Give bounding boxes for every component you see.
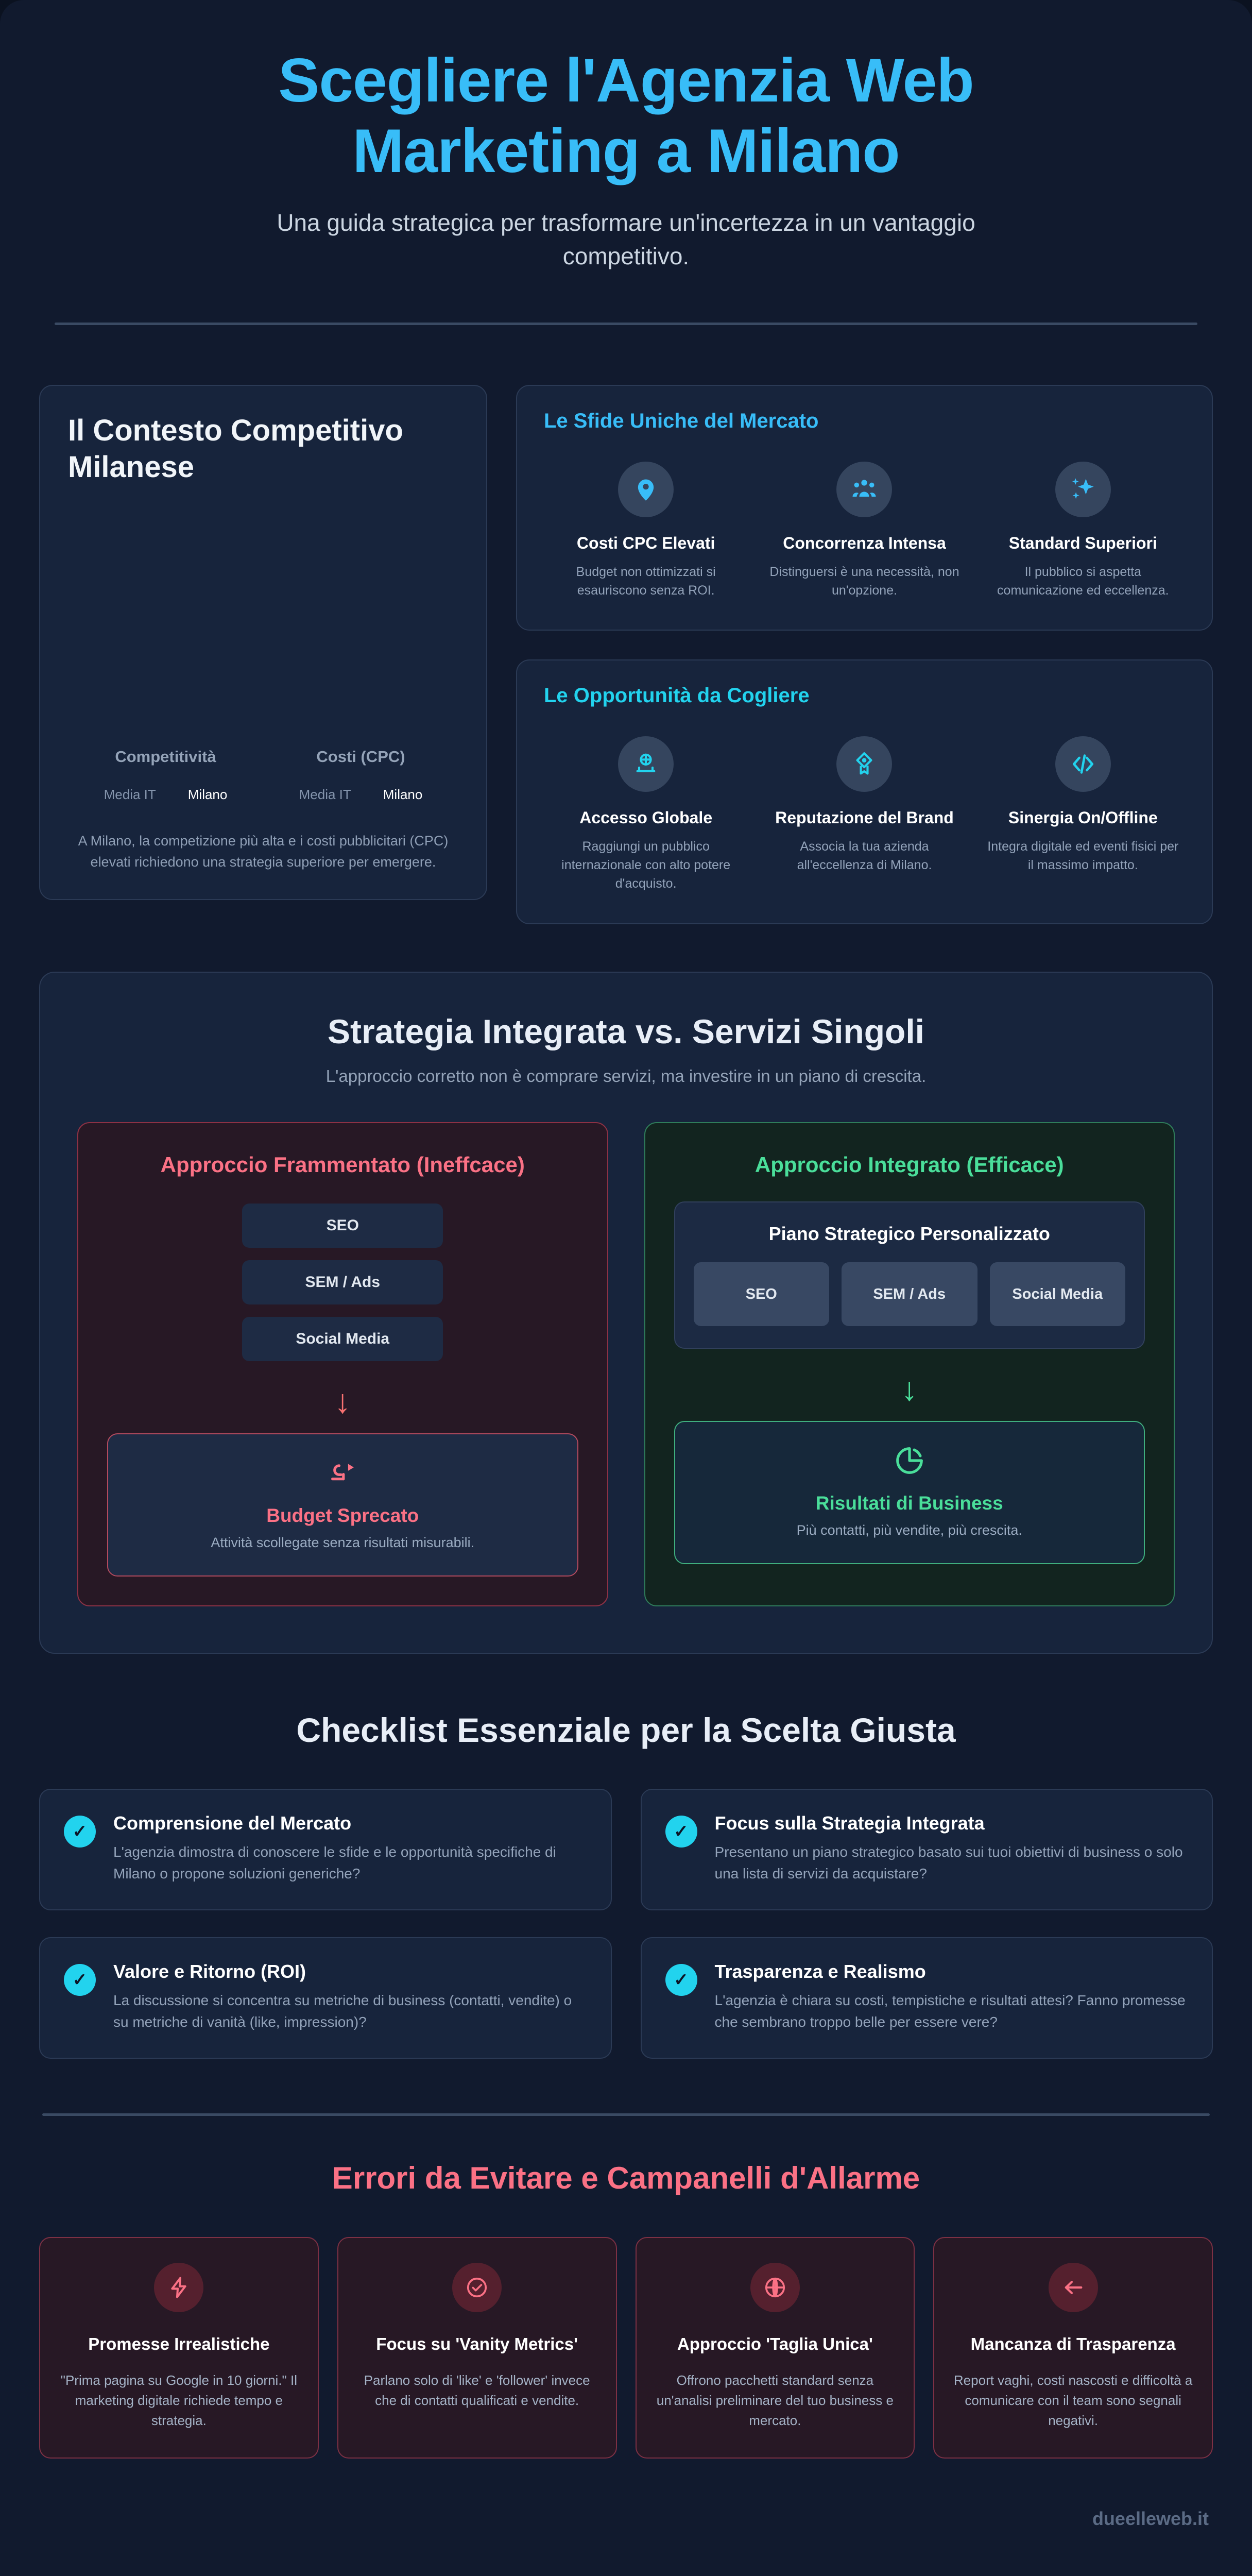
check-circle-icon: ✓ — [665, 1964, 697, 1996]
opportunity-desc: Integra digitale ed eventi fisici per il… — [986, 837, 1180, 875]
service-chip[interactable]: SEO — [242, 1204, 443, 1248]
error-card: Promesse Irrealistiche "Prima pagina su … — [39, 2237, 319, 2459]
infographic-page: Scegliere l'Agenzia Web Marketing a Mila… — [0, 0, 1252, 2576]
opportunity-item: Sinergia On/Offline Integra digitale ed … — [981, 736, 1185, 893]
opportunity-desc: Raggiungi un pubblico internazionale con… — [549, 837, 743, 893]
chart-group: Competitività Media IT Milano — [76, 748, 255, 803]
challenges-list: Costi CPC Elevati Budget non ottimizzati… — [544, 462, 1185, 600]
chart-group-label: Costi (CPC) — [271, 748, 451, 766]
chart-note: A Milano, la competizione più alta e i c… — [68, 831, 458, 872]
integrated-title: Approccio Integrato (Efficace) — [674, 1151, 1145, 1179]
check-circle-icon — [452, 2263, 502, 2312]
strategy-title: Strategia Integrata vs. Servizi Singoli — [77, 1012, 1175, 1051]
checklist-item-title: Focus sulla Strategia Integrata — [715, 1812, 1189, 1834]
checklist-item-desc: L'agenzia dimostra di conoscere le sfide… — [113, 1841, 587, 1885]
checklist-item-title: Comprensione del Mercato — [113, 1812, 587, 1834]
integrated-panel: Approccio Integrato (Efficace) Piano Str… — [644, 1122, 1175, 1607]
code-brackets-icon — [1055, 736, 1111, 792]
integrated-outcome: Risultati di Business Più contatti, più … — [674, 1421, 1145, 1564]
challenge-title: Concorrenza Intensa — [767, 533, 961, 554]
arrow-down-icon: ↓ — [674, 1372, 1145, 1405]
checklist-item[interactable]: ✓ Valore e Ritorno (ROI) La discussione … — [39, 1937, 612, 2059]
competitive-bar-chart: Competitività Media IT Milano Costi (CPC… — [68, 486, 458, 873]
strategy-comparison: Approccio Frammentato (Ineffcace) SEO SE… — [77, 1122, 1175, 1607]
checklist-item[interactable]: ✓ Comprensione del Mercato L'agenzia dim… — [39, 1789, 612, 1910]
plan-service-list: SEO SEM / Ads Social Media — [694, 1262, 1126, 1326]
checklist-item-desc: L'agenzia è chiara su costi, tempistiche… — [715, 1990, 1189, 2033]
checklist-title: Checklist Essenziale per la Scelta Giust… — [39, 1710, 1213, 1750]
error-desc: Parlano solo di 'like' e 'follower' inve… — [354, 2370, 601, 2411]
error-title: Focus su 'Vanity Metrics' — [354, 2333, 601, 2356]
plan-service-chip[interactable]: SEM / Ads — [842, 1262, 977, 1326]
challenges-card: Le Sfide Uniche del Mercato Costi CPC El… — [516, 385, 1213, 631]
strategy-subtitle: L'approccio corretto non è comprare serv… — [77, 1066, 1175, 1086]
error-title: Promesse Irrealistiche — [56, 2333, 302, 2356]
opportunity-title: Sinergia On/Offline — [986, 807, 1180, 829]
fragmented-outcome-title: Budget Sprecato — [129, 1505, 557, 1527]
right-column: Le Sfide Uniche del Mercato Costi CPC El… — [516, 385, 1213, 924]
errors-title: Errori da Evitare e Campanelli d'Allarme — [39, 2160, 1213, 2196]
plan-service-chip[interactable]: SEO — [694, 1262, 830, 1326]
checklist-section: Checklist Essenziale per la Scelta Giust… — [39, 1710, 1213, 2059]
opportunity-item: Accesso Globale Raggiungi un pubblico in… — [544, 736, 748, 893]
opportunities-title: Le Opportunità da Cogliere — [544, 684, 1185, 707]
service-chip[interactable]: SEM / Ads — [242, 1260, 443, 1304]
chart-tick-label: Media IT — [104, 787, 156, 803]
context-section: Il Contesto Competitivo Milanese Competi… — [39, 385, 1213, 924]
challenge-desc: Il pubblico si aspetta comunicazione ed … — [986, 563, 1180, 600]
chart-group-legend: Media IT Milano — [271, 787, 451, 803]
chart-plot-area — [68, 557, 458, 748]
lightning-bolt-icon — [154, 2263, 203, 2312]
sparkles-icon — [1055, 462, 1111, 517]
error-card: Approccio 'Taglia Unica' Offrono pacchet… — [636, 2237, 915, 2459]
challenges-title: Le Sfide Uniche del Mercato — [544, 410, 1185, 433]
error-desc: Report vaghi, costi nascosti e difficolt… — [950, 2370, 1196, 2431]
error-desc: "Prima pagina su Google in 10 giorni." I… — [56, 2370, 302, 2431]
integrated-outcome-desc: Più contatti, più vendite, più crescita. — [696, 1522, 1124, 1538]
fragmented-outcome-desc: Attività scollegate senza risultati misu… — [129, 1535, 557, 1551]
challenge-item: Concorrenza Intensa Distinguersi è una n… — [762, 462, 966, 600]
chart-tick-label: Milano — [383, 787, 423, 803]
pie-chart-icon — [696, 1445, 1124, 1479]
integrated-outcome-title: Risultati di Business — [696, 1493, 1124, 1514]
arrow-left-icon — [1049, 2263, 1098, 2312]
opportunities-card: Le Opportunità da Cogliere Accesso Globa… — [516, 659, 1213, 924]
checklist-item[interactable]: ✓ Trasparenza e Realismo L'agenzia è chi… — [641, 1937, 1213, 2059]
chart-group-legend: Media IT Milano — [76, 787, 255, 803]
service-chip[interactable]: Social Media — [242, 1317, 443, 1361]
context-card: Il Contesto Competitivo Milanese Competi… — [39, 385, 487, 900]
error-card: Focus su 'Vanity Metrics' Parlano solo d… — [337, 2237, 617, 2459]
check-circle-icon: ✓ — [665, 1816, 697, 1848]
error-desc: Offrono pacchetti standard senza un'anal… — [652, 2370, 899, 2431]
chart-tick-label: Milano — [188, 787, 228, 803]
fragmented-outcome: Budget Sprecato Attività scollegate senz… — [107, 1433, 578, 1577]
map-pin-icon — [618, 462, 674, 517]
opportunity-title: Accesso Globale — [549, 807, 743, 829]
checklist-grid: ✓ Comprensione del Mercato L'agenzia dim… — [39, 1789, 1213, 2059]
plan-service-chip[interactable]: Social Media — [990, 1262, 1126, 1326]
globe-stand-icon — [618, 736, 674, 792]
globe-icon — [750, 2263, 800, 2312]
error-title: Approccio 'Taglia Unica' — [652, 2333, 899, 2356]
arrow-down-icon: ↓ — [107, 1385, 578, 1418]
fragmented-service-list: SEO SEM / Ads Social Media — [107, 1204, 578, 1361]
opportunity-title: Reputazione del Brand — [767, 807, 961, 829]
challenge-title: Costi CPC Elevati — [549, 533, 743, 554]
errors-section: Errori da Evitare e Campanelli d'Allarme… — [39, 2113, 1213, 2459]
check-circle-icon: ✓ — [64, 1964, 96, 1996]
opportunities-list: Accesso Globale Raggiungi un pubblico in… — [544, 736, 1185, 893]
footer-brand: dueelleweb.it — [39, 2508, 1213, 2530]
opportunity-desc: Associa la tua azienda all'eccellenza di… — [767, 837, 961, 875]
plan-title: Piano Strategico Personalizzato — [694, 1223, 1126, 1245]
chart-group-label: Competitività — [76, 748, 255, 766]
challenge-item: Standard Superiori Il pubblico si aspett… — [981, 462, 1185, 600]
checklist-item-desc: La discussione si concentra su metriche … — [113, 1990, 587, 2033]
page-subtitle: Una guida strategica per trasformare un'… — [225, 206, 1028, 274]
context-card-title: Il Contesto Competitivo Milanese — [68, 413, 458, 486]
checklist-item-desc: Presentano un piano strategico basato su… — [715, 1841, 1189, 1885]
checklist-item-title: Valore e Ritorno (ROI) — [113, 1961, 587, 1982]
strategic-plan-box: Piano Strategico Personalizzato SEO SEM … — [674, 1201, 1145, 1349]
errors-divider — [42, 2113, 1210, 2116]
errors-grid: Promesse Irrealistiche "Prima pagina su … — [39, 2237, 1213, 2459]
fragmented-panel: Approccio Frammentato (Ineffcace) SEO SE… — [77, 1122, 608, 1607]
page-title: Scegliere l'Agenzia Web Marketing a Mila… — [173, 45, 1079, 187]
challenge-desc: Distinguersi è una necessità, non un'opz… — [767, 563, 961, 600]
opportunity-item: Reputazione del Brand Associa la tua azi… — [762, 736, 966, 893]
error-card: Mancanza di Trasparenza Report vaghi, co… — [933, 2237, 1213, 2459]
badge-award-icon — [836, 736, 892, 792]
checklist-item-title: Trasparenza e Realismo — [715, 1961, 1189, 1982]
users-group-icon — [836, 462, 892, 517]
fragmented-title: Approccio Frammentato (Ineffcace) — [107, 1151, 578, 1179]
strategy-section: Strategia Integrata vs. Servizi Singoli … — [39, 972, 1213, 1654]
broken-link-icon — [129, 1457, 557, 1492]
chart-groups: Competitività Media IT Milano Costi (CPC… — [68, 748, 458, 803]
error-title: Mancanza di Trasparenza — [950, 2333, 1196, 2356]
page-header: Scegliere l'Agenzia Web Marketing a Mila… — [39, 0, 1213, 325]
chart-tick-label: Media IT — [299, 787, 351, 803]
header-divider — [55, 323, 1197, 325]
challenge-item: Costi CPC Elevati Budget non ottimizzati… — [544, 462, 748, 600]
chart-group: Costi (CPC) Media IT Milano — [271, 748, 451, 803]
challenge-desc: Budget non ottimizzati si esauriscono se… — [549, 563, 743, 600]
check-circle-icon: ✓ — [64, 1816, 96, 1848]
challenge-title: Standard Superiori — [986, 533, 1180, 554]
checklist-item[interactable]: ✓ Focus sulla Strategia Integrata Presen… — [641, 1789, 1213, 1910]
